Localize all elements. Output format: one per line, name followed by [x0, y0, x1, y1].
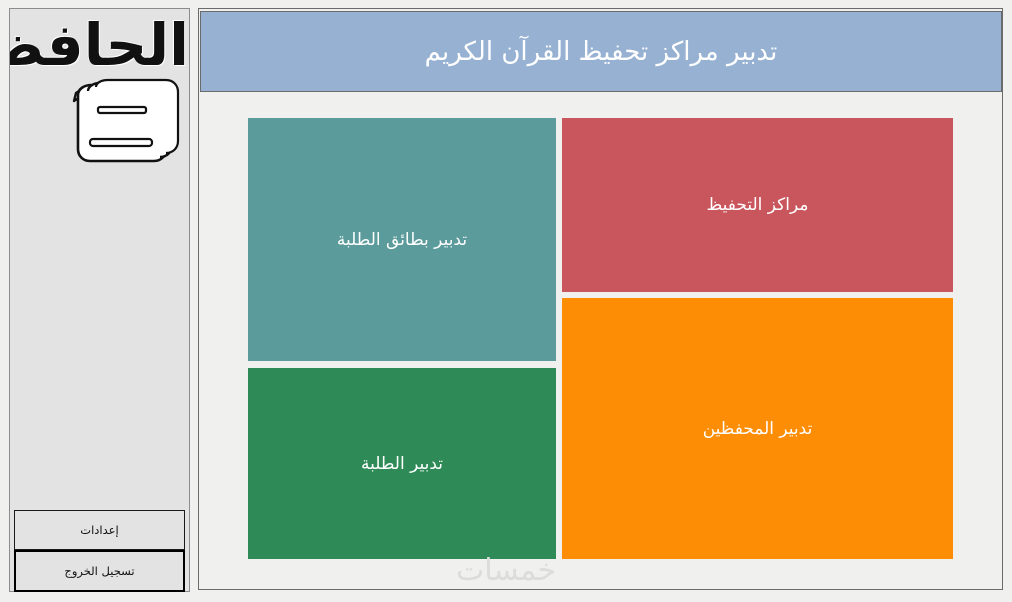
- settings-button[interactable]: إعدادات: [14, 510, 185, 550]
- tile-students-label: تدبير الطلبة: [361, 454, 443, 474]
- settings-button-label: إعدادات: [80, 523, 118, 537]
- logout-button-label: تسجيل الخروج: [64, 564, 134, 578]
- header-banner: تدبير مراكز تحفيظ القرآن الكريم: [200, 11, 1002, 92]
- logout-button[interactable]: تسجيل الخروج: [14, 550, 185, 592]
- tile-student-cards[interactable]: تدبير بطائق الطلبة: [248, 118, 556, 361]
- tile-student-cards-label: تدبير بطائق الطلبة: [337, 230, 467, 250]
- tile-centers[interactable]: مراكز التحفيظ: [562, 118, 953, 292]
- sidebar: الحافظ إعدادات تسجيل الخروج: [9, 8, 190, 592]
- main-panel: تدبير مراكز تحفيظ القرآن الكريم تدبير بط…: [198, 8, 1003, 590]
- app-logo: الحافظ: [10, 9, 189, 189]
- tile-teachers-label: تدبير المحفظين: [703, 419, 813, 439]
- book-stack-icon: [16, 13, 186, 183]
- tile-students[interactable]: تدبير الطلبة: [248, 368, 556, 559]
- tile-centers-label: مراكز التحفيظ: [707, 195, 809, 215]
- page-title: تدبير مراكز تحفيظ القرآن الكريم: [425, 37, 778, 67]
- tile-teachers[interactable]: تدبير المحفظين: [562, 298, 953, 559]
